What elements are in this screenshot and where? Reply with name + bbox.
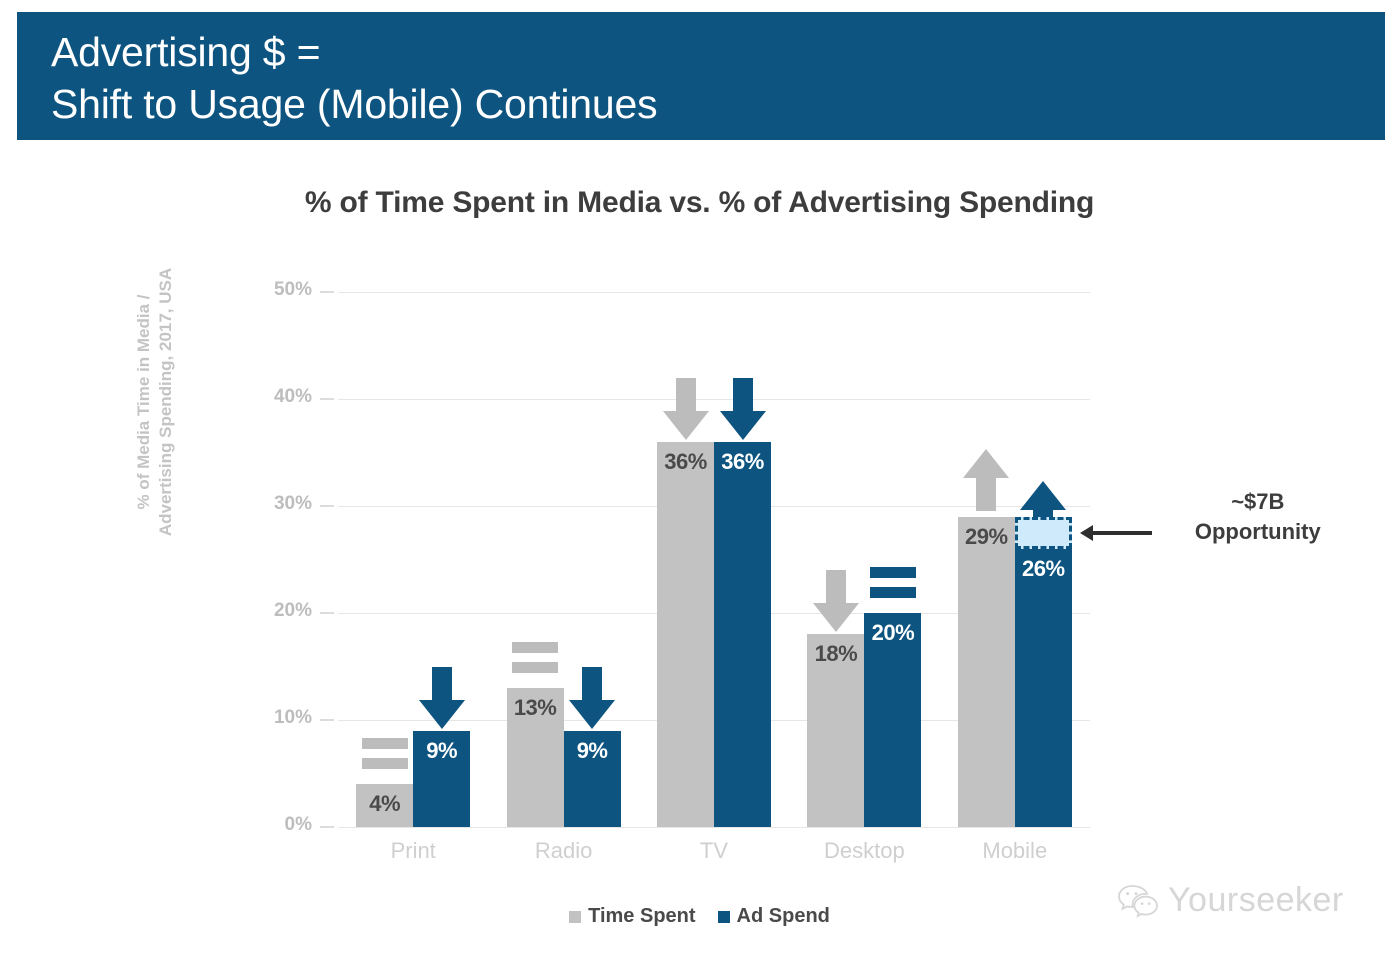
y-axis-tick-label: 40% (250, 386, 312, 408)
legend-label: Time Spent (588, 905, 695, 928)
bar-radio-ad-spend[interactable]: 9% (564, 731, 621, 827)
wechat-icon (1118, 884, 1158, 918)
gridline (338, 399, 1090, 400)
y-axis-tick-label: 10% (250, 707, 312, 729)
bar-mobile-ad-spend[interactable]: 26% (1015, 549, 1072, 827)
bar-value-label: 13% (507, 695, 564, 721)
x-axis-label-mobile: Mobile (940, 838, 1090, 864)
y-axis-tick-mark (320, 826, 334, 828)
arrow-down-icon (813, 570, 859, 632)
bar-desktop-time-spent[interactable]: 18% (807, 634, 864, 827)
opportunity-arrow-icon (1080, 523, 1152, 543)
bar-value-label: 36% (714, 449, 771, 475)
bar-tv-time-spent[interactable]: 36% (657, 442, 714, 827)
bar-value-label: 18% (807, 641, 864, 667)
bar-value-label: 36% (657, 449, 714, 475)
bar-mobile-time-spent[interactable]: 29% (958, 517, 1015, 827)
legend-label: Ad Spend (737, 905, 830, 928)
y-axis-tick-mark (320, 612, 334, 614)
watermark: Yourseeker (1118, 881, 1344, 920)
bar-value-label: 4% (356, 791, 413, 817)
arrow-down-icon (569, 667, 615, 729)
y-axis-tick-label: 50% (250, 279, 312, 301)
bar-value-label: 9% (564, 738, 621, 764)
bar-print-ad-spend[interactable]: 9% (413, 731, 470, 827)
y-axis-tick-mark (320, 398, 334, 400)
legend-swatch (569, 911, 581, 923)
y-axis-title: % of Media Time in Media / Advertising S… (133, 192, 177, 612)
y-axis-tick-mark (320, 291, 334, 293)
opportunity-label: ~$7B Opportunity (1158, 487, 1358, 547)
y-axis-tick-mark (320, 505, 334, 507)
equals-icon (362, 736, 408, 776)
bar-value-label: 20% (864, 620, 921, 646)
arrow-down-icon (663, 378, 709, 440)
y-axis-tick-label: 0% (250, 814, 312, 836)
bar-value-label: 9% (413, 738, 470, 764)
bar-print-time-spent[interactable]: 4% (356, 784, 413, 827)
arrow-down-icon (419, 667, 465, 729)
bar-tv-ad-spend[interactable]: 36% (714, 442, 771, 827)
legend-swatch (718, 911, 730, 923)
y-axis-tick-mark (320, 719, 334, 721)
equals-icon (870, 565, 916, 605)
bar-radio-time-spent[interactable]: 13% (507, 688, 564, 827)
x-axis-label-print: Print (338, 838, 488, 864)
bar-value-label: 29% (958, 524, 1015, 550)
y-axis-tick-label: 30% (250, 493, 312, 515)
gridline (338, 827, 1090, 828)
legend-item-ad-spend[interactable]: Ad Spend (718, 905, 830, 928)
gridline (338, 292, 1090, 293)
y-axis-tick-label: 20% (250, 600, 312, 622)
x-axis-label-desktop: Desktop (789, 838, 939, 864)
bar-chart: % of Media Time in Media / Advertising S… (0, 0, 1399, 960)
legend-item-time-spent[interactable]: Time Spent (569, 905, 695, 928)
x-axis-label-radio: Radio (488, 838, 638, 864)
equals-icon (512, 640, 558, 680)
bar-desktop-ad-spend[interactable]: 20% (864, 613, 921, 827)
watermark-text: Yourseeker (1168, 881, 1344, 920)
x-axis-label-tv: TV (639, 838, 789, 864)
arrow-down-icon (720, 378, 766, 440)
opportunity-box (1015, 517, 1072, 549)
bar-value-label: 26% (1015, 556, 1072, 582)
arrow-up-icon (963, 449, 1009, 511)
